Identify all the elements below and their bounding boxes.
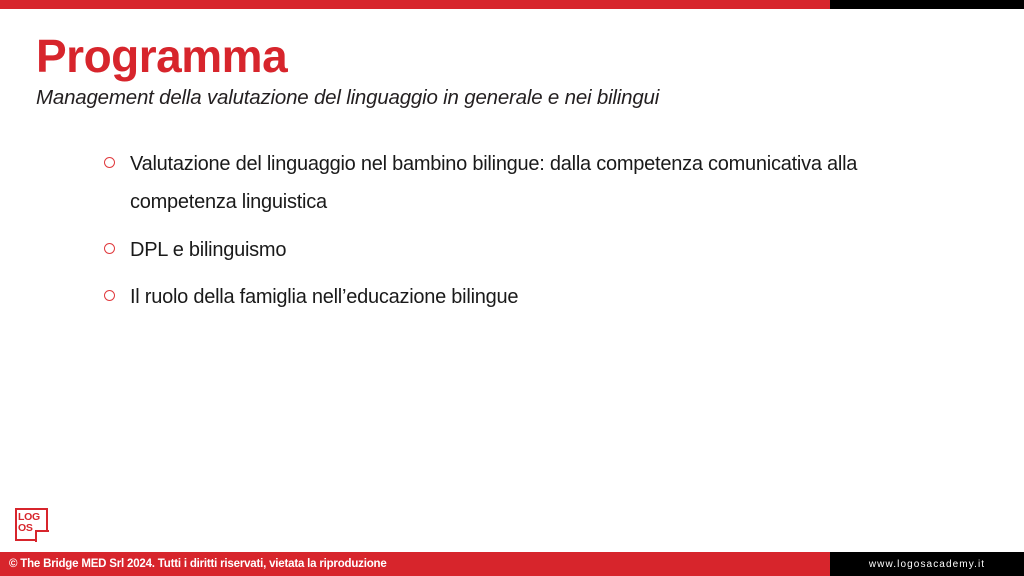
top-accent-bar-black-segment	[830, 0, 1024, 9]
logo-wordmark: LOG OS	[18, 512, 42, 534]
footer-copyright-text: © The Bridge MED Srl 2024. Tutti i dirit…	[9, 558, 387, 570]
slide: Programma Management della valutazione d…	[0, 0, 1024, 576]
agenda-bullet-list: Valutazione del linguaggio nel bambino b…	[104, 145, 934, 326]
circle-bullet-icon	[104, 157, 115, 168]
list-item: Il ruolo della famiglia nell’educazione …	[104, 278, 934, 316]
circle-bullet-icon	[104, 243, 115, 254]
logo-wordmark-line-2: OS	[18, 523, 42, 534]
footer-left-segment: © The Bridge MED Srl 2024. Tutti i dirit…	[0, 552, 830, 576]
top-accent-bar	[0, 0, 1024, 9]
top-accent-bar-red-segment	[0, 0, 830, 9]
page-title: Programma	[36, 32, 976, 80]
title-block: Programma Management della valutazione d…	[36, 32, 976, 111]
logos-logo: LOG OS	[15, 508, 48, 541]
footer-bar: © The Bridge MED Srl 2024. Tutti i dirit…	[0, 552, 1024, 576]
footer-website-url[interactable]: www.logosacademy.it	[869, 559, 985, 570]
list-item-label: DPL e bilinguismo	[130, 231, 934, 269]
list-item: Valutazione del linguaggio nel bambino b…	[104, 145, 934, 222]
list-item-label: Il ruolo della famiglia nell’educazione …	[130, 278, 934, 316]
list-item-label: Valutazione del linguaggio nel bambino b…	[130, 145, 934, 222]
list-item: DPL e bilinguismo	[104, 231, 934, 269]
footer-right-segment: www.logosacademy.it	[830, 552, 1024, 576]
circle-bullet-icon	[104, 290, 115, 301]
page-subtitle: Management della valutazione del linguag…	[36, 86, 976, 111]
